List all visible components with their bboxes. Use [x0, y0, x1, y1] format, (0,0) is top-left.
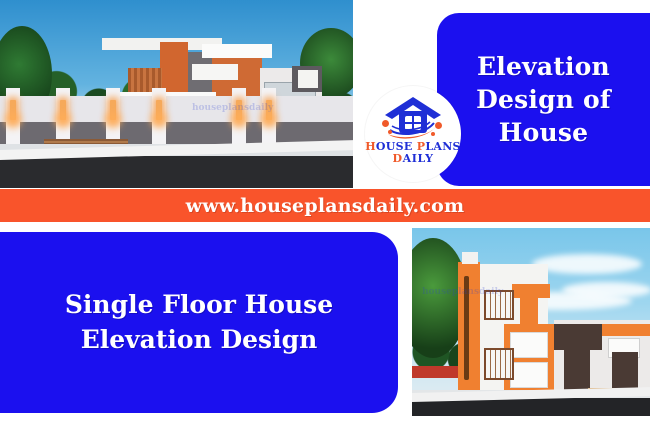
top-left-house-image: houseplansdaily — [0, 0, 353, 188]
top-title-text: Elevation Design of House — [437, 50, 650, 149]
image-watermark: houseplansdaily — [422, 288, 492, 298]
logo-h: H — [365, 140, 376, 153]
website-url-text[interactable]: www.houseplansdaily.com — [186, 195, 465, 217]
bottom-title-panel: Single Floor House Elevation Design — [0, 232, 398, 413]
house-roof-window-logo-icon — [382, 94, 444, 140]
banner-canvas: houseplansdaily Elevation Design of Hous… — [0, 0, 650, 433]
top-title-panel: Elevation Design of House — [437, 13, 650, 186]
brand-logo[interactable]: HOUSE PLANS DAILY — [365, 86, 461, 182]
logo-d: D — [392, 152, 402, 165]
logo-wordmark: HOUSE PLANS DAILY — [365, 141, 461, 164]
website-url-band: www.houseplansdaily.com — [0, 189, 650, 222]
bottom-right-house-image: houseplansdaily — [412, 228, 650, 416]
logo-aily: AILY — [403, 152, 434, 165]
image-watermark: houseplansdaily — [192, 104, 262, 114]
bottom-title-text: Single Floor House Elevation Design — [0, 288, 398, 357]
